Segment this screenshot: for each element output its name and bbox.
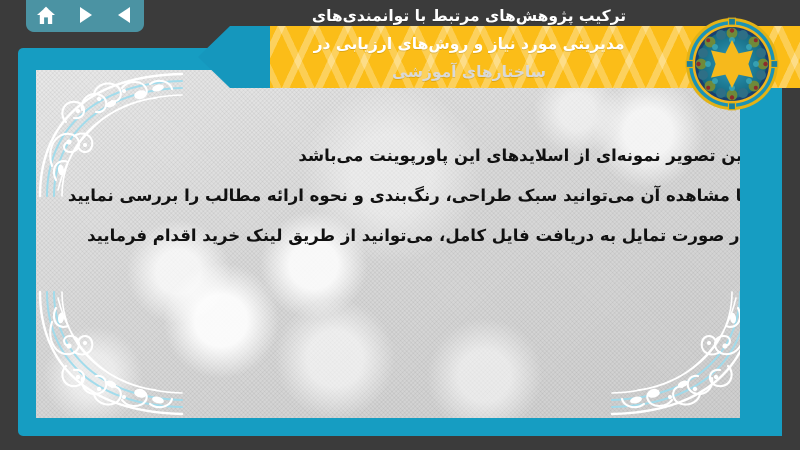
persian-medallion-icon (684, 16, 780, 112)
slide-body-line-3: در صورت تمایل به دریافت فایل کامل، می‌تو… (88, 216, 748, 256)
triangle-right-icon (77, 6, 94, 24)
navigation-toolbar (26, 0, 144, 32)
slide-body-line-1: این تصویر نمونه‌ای از اسلایدهای این پاور… (88, 136, 748, 176)
page-title-line-2: مدیریتی مورد نیاز و روش‌های ارزیابی در (234, 30, 704, 58)
triangle-left-icon (116, 6, 133, 24)
slide-frame: این تصویر نمونه‌ای از اسلایدهای این پاور… (18, 48, 782, 436)
page-title-line-1: ترکیب پژوهش‌های مرتبط با توانمندی‌های (234, 2, 704, 30)
previous-slide-button[interactable] (109, 2, 139, 28)
home-icon (36, 6, 56, 25)
slide-stage: ترکیب پژوهش‌های مرتبط با توانمندی‌های مد… (0, 0, 800, 450)
frame-right-edge (740, 58, 782, 436)
next-slide-button[interactable] (70, 2, 100, 28)
slide-body-line-2: با مشاهده آن می‌توانید سبک طراحی، رنگ‌بن… (88, 176, 748, 216)
home-button[interactable] (31, 2, 61, 28)
page-title: ترکیب پژوهش‌های مرتبط با توانمندی‌های مد… (234, 2, 704, 86)
page-title-line-3: ساختارهای آموزشی (234, 58, 704, 86)
slide-body-text: این تصویر نمونه‌ای از اسلایدهای این پاور… (88, 136, 748, 256)
bottom-background-strip (0, 436, 800, 450)
